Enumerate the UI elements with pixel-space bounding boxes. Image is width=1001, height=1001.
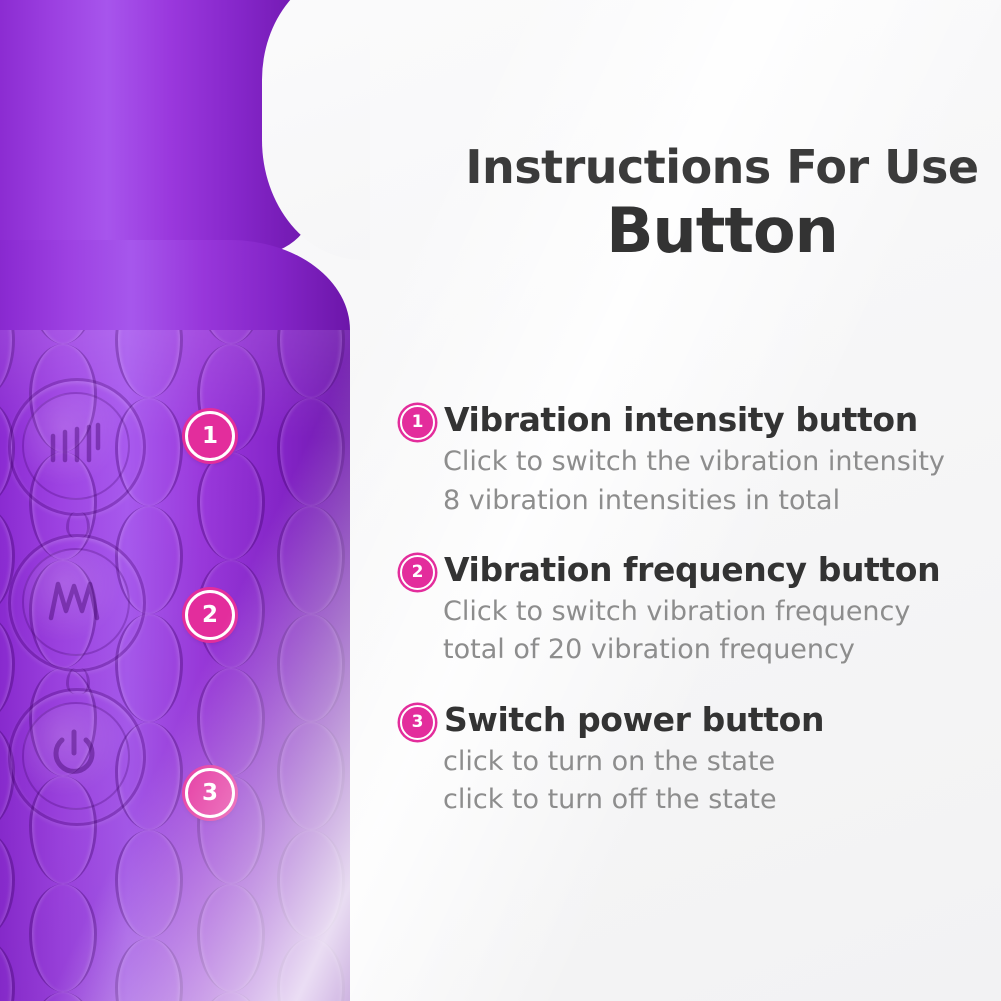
item-description-line: 8 vibration intensities in total bbox=[443, 482, 1001, 520]
item-heading: Vibration intensity button bbox=[444, 400, 918, 440]
callout-power[interactable]: 3 bbox=[185, 768, 235, 818]
item-number: 2 bbox=[412, 564, 424, 581]
item-description: Click to switch the vibration intensity … bbox=[396, 443, 1001, 520]
title-block: Instructions For Use Button bbox=[442, 144, 1001, 265]
item-description: click to turn on the state click to turn… bbox=[396, 743, 1001, 820]
list-item: 2 Vibration frequency button Click to sw… bbox=[396, 550, 1001, 670]
list-item: 3 Switch power button click to turn on t… bbox=[396, 700, 1001, 820]
list-item: 1 Vibration intensity button Click to sw… bbox=[396, 400, 1001, 520]
intensity-bars-icon bbox=[22, 392, 126, 496]
item-number-badge: 1 bbox=[400, 405, 435, 440]
item-description-line: click to turn off the state bbox=[443, 781, 1001, 819]
item-number: 3 bbox=[412, 714, 424, 731]
page-title-line1: Instructions For Use bbox=[442, 144, 1001, 190]
callout-frequency[interactable]: 2 bbox=[185, 590, 235, 640]
instructions-panel: Instructions For Use Button 1 Vibration … bbox=[396, 0, 1001, 1001]
item-heading-row: 2 Vibration frequency button bbox=[396, 550, 1001, 590]
item-heading-row: 3 Switch power button bbox=[396, 700, 1001, 740]
callout-number: 3 bbox=[202, 782, 218, 805]
instruction-list: 1 Vibration intensity button Click to sw… bbox=[396, 400, 1001, 850]
item-heading: Switch power button bbox=[444, 700, 824, 740]
item-heading: Vibration frequency button bbox=[444, 550, 940, 590]
button-cluster bbox=[0, 378, 148, 818]
item-heading-row: 1 Vibration intensity button bbox=[396, 400, 1001, 440]
product-photo: 1 2 3 bbox=[0, 0, 370, 1001]
callout-number: 1 bbox=[202, 425, 218, 448]
power-icon bbox=[22, 702, 126, 806]
instruction-graphic: 1 2 3 Instructions For Use Button 1 Vibr… bbox=[0, 0, 1001, 1001]
page-title-line2: Button bbox=[442, 196, 1001, 265]
item-description-line: Click to switch vibration frequency bbox=[443, 593, 1001, 631]
frequency-wave-icon bbox=[22, 548, 126, 652]
item-description-line: total of 20 vibration frequency bbox=[443, 631, 1001, 669]
item-number: 1 bbox=[412, 414, 424, 431]
item-number-badge: 2 bbox=[400, 555, 435, 590]
item-description: Click to switch vibration frequency tota… bbox=[396, 593, 1001, 670]
item-description-line: click to turn on the state bbox=[443, 743, 1001, 781]
item-number-badge: 3 bbox=[400, 705, 435, 740]
callout-number: 2 bbox=[202, 604, 218, 627]
product-body bbox=[0, 330, 350, 1001]
texture-column bbox=[308, 330, 310, 1001]
item-description-line: Click to switch the vibration intensity bbox=[443, 443, 1001, 481]
callout-intensity[interactable]: 1 bbox=[185, 411, 235, 461]
